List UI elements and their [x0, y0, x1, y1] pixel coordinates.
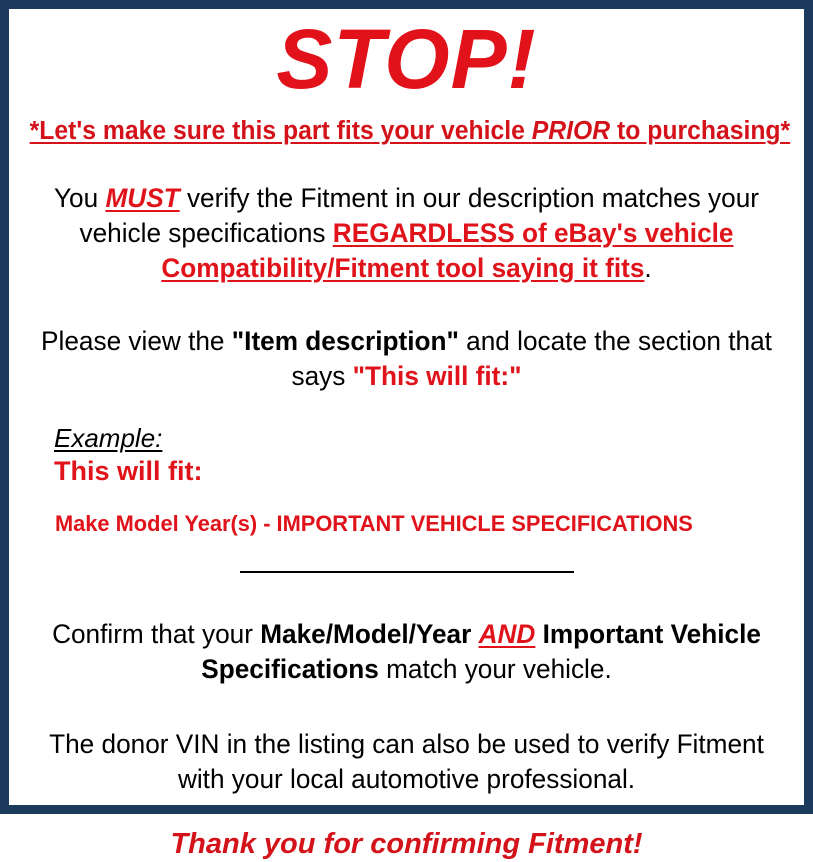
stop-headline: STOP!: [18, 9, 795, 103]
fitment-notice-card: STOP! *Let's make sure this part fits yo…: [0, 0, 813, 814]
and-emphasis: AND: [479, 619, 536, 649]
example-spec-line: Make Model Year(s) - IMPORTANT VEHICLE S…: [54, 487, 773, 537]
subtitle-lead: *Let's make sure this part fits your veh…: [30, 117, 532, 145]
section-divider: [240, 571, 574, 573]
must-emphasis: MUST: [105, 183, 179, 213]
example-label-row: Example:: [54, 424, 795, 454]
example-label: Example:: [54, 424, 162, 454]
description-text-lead: Please view the: [41, 326, 232, 356]
paragraph-confirm: Confirm that your Make/Model/Year AND Im…: [30, 581, 784, 687]
item-description-emphasis: "Item description": [232, 326, 459, 356]
this-will-fit-emphasis: "This will fit:": [353, 361, 522, 391]
example-block: Example: This will fit: Make Model Year(…: [18, 394, 795, 537]
confirm-space-a: [471, 619, 478, 649]
divider-wrap: [18, 537, 795, 581]
notice-content: STOP! *Let's make sure this part fits yo…: [9, 9, 804, 805]
paragraph-item-description: Please view the "Item description" and l…: [30, 286, 784, 394]
subtitle-emphasis-prior: PRIOR: [532, 117, 610, 145]
subtitle-tail: to purchasing*: [610, 117, 790, 145]
make-model-year-emphasis: Make/Model/Year: [260, 619, 471, 649]
must-text-end: .: [644, 253, 651, 283]
closing-thank-you: Thank you for confirming Fitment!: [18, 797, 795, 862]
paragraph-donor-vin: The donor VIN in the listing can also be…: [30, 687, 784, 797]
confirm-text-end: match your vehicle.: [379, 654, 612, 684]
paragraph-must-verify: You MUST verify the Fitment in our descr…: [30, 147, 784, 286]
subtitle-line: *Let's make sure this part fits your veh…: [30, 103, 784, 146]
confirm-space-b: [535, 619, 542, 649]
must-text-lead: You: [54, 183, 105, 213]
confirm-text-lead: Confirm that your: [52, 619, 260, 649]
example-fit-heading: This will fit:: [54, 454, 795, 487]
